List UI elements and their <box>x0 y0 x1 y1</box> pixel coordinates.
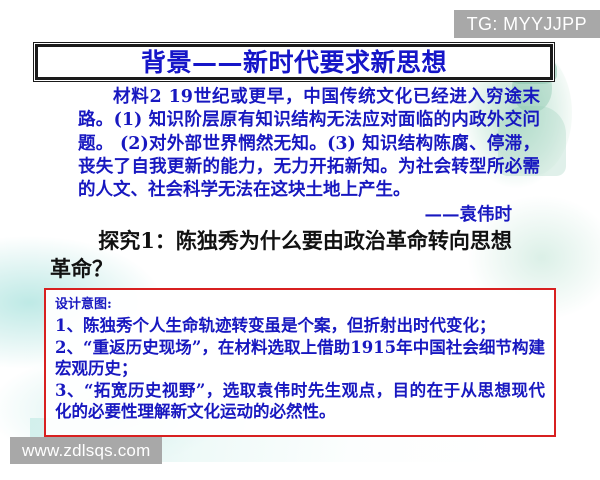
material-block: 材料2 19世纪或更早，中国传统文化已经进入穷途末路。(1) 知识阶层原有知识结… <box>78 86 540 228</box>
design-intent-box: 设计意图: 1、陈独秀个人生命轨迹转变虽是个案，但折射出时代变化； 2、“重返历… <box>44 288 556 437</box>
design-intent-item-2: 2、“重返历史现场”，在材料选取上借助1915年中国社会细节构建宏观历史； <box>55 337 545 380</box>
site-watermark: www.zdlsqs.com <box>10 437 162 464</box>
design-intent-item-3: 3、“拓宽历史视野”，选取袁伟时先生观点，目的在于从思想现代化的必要性理解新文化… <box>55 380 545 423</box>
material-paragraph: 材料2 19世纪或更早，中国传统文化已经进入穷途末路。(1) 知识阶层原有知识结… <box>78 86 540 202</box>
slide-canvas: 背景——新时代要求新思想 材料2 19世纪或更早，中国传统文化已经进入穷途末路。… <box>0 0 600 480</box>
design-intent-heading: 设计意图: <box>55 297 545 313</box>
material-attribution: ——袁伟时 <box>78 204 512 227</box>
telegram-watermark: TG: MYYJJPP <box>454 10 600 38</box>
inquiry-block: 探究1：陈独秀为什么要由政治革命转向思想革命？ <box>50 227 520 283</box>
page-title: 背景——新时代要求新思想 <box>141 50 447 75</box>
slide-title-box: 背景——新时代要求新思想 <box>33 42 555 82</box>
design-intent-item-1: 1、陈独秀个人生命轨迹转变虽是个案，但折射出时代变化； <box>55 315 545 336</box>
inquiry-question: 探究1：陈独秀为什么要由政治革命转向思想革命？ <box>50 227 520 283</box>
